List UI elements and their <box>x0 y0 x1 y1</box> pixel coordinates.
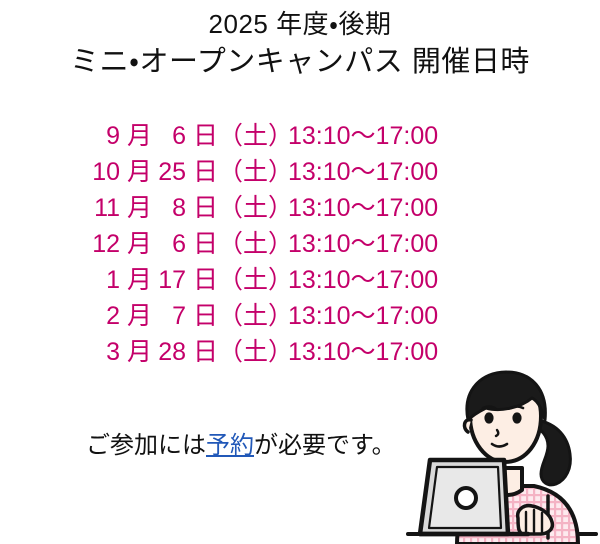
ponytail <box>532 420 570 485</box>
eye-right <box>512 412 521 423</box>
schedule-month: 9 月 <box>86 118 152 154</box>
shirt <box>457 486 578 544</box>
reservation-note-suffix: が必要です。 <box>254 432 396 459</box>
mouth <box>492 444 507 447</box>
schedule-day: 28 日 <box>152 334 218 370</box>
schedule-day: 25 日 <box>152 154 218 190</box>
schedule-dayofweek: （土） <box>218 334 280 370</box>
woman-at-laptop-illustration <box>400 368 600 544</box>
schedule-day: 6 日 <box>152 118 218 154</box>
schedule-month: 11 月 <box>86 190 152 226</box>
schedule-month: 3 月 <box>86 334 152 370</box>
eye-left <box>484 412 493 423</box>
schedule-dayofweek: （土） <box>218 118 280 154</box>
schedule-month: 10 月 <box>86 154 152 190</box>
hair <box>467 372 545 420</box>
schedule-dayofweek: （土） <box>218 226 280 262</box>
schedule-row: 2 月 7 日 （土） 13:10〜17:00 <box>0 298 600 334</box>
schedule-row: 9 月 6 日 （土） 13:10〜17:00 <box>0 118 600 154</box>
schedule-time: 13:10〜17:00 <box>280 118 438 154</box>
schedule-dayofweek: （土） <box>218 154 280 190</box>
schedule-time: 13:10〜17:00 <box>280 334 438 370</box>
schedule-day: 17 日 <box>152 262 218 298</box>
schedule-time: 13:10〜17:00 <box>280 190 438 226</box>
schedule-time: 13:10〜17:00 <box>280 298 438 334</box>
schedule-row: 10 月 25 日 （土） 13:10〜17:00 <box>0 154 600 190</box>
schedule-day: 6 日 <box>152 226 218 262</box>
schedule-row: 11 月 8 日 （土） 13:10〜17:00 <box>0 190 600 226</box>
schedule-row: 3 月 28 日 （土） 13:10〜17:00 <box>0 334 600 370</box>
laptop-logo-icon <box>456 488 476 508</box>
schedule-row: 12 月 6 日 （土） 13:10〜17:00 <box>0 226 600 262</box>
hand <box>518 506 553 534</box>
reservation-note: ご参加には予約が必要です。 <box>86 430 396 462</box>
schedule-time: 13:10〜17:00 <box>280 154 438 190</box>
schedule-day: 8 日 <box>152 190 218 226</box>
schedule-time: 13:10〜17:00 <box>280 226 438 262</box>
schedule-dayofweek: （土） <box>218 190 280 226</box>
laptop <box>420 460 528 534</box>
title-line-1: 2025 年度・後期 <box>0 6 600 42</box>
nose <box>496 430 498 436</box>
schedule-dayofweek: （土） <box>218 298 280 334</box>
schedule-time: 13:10〜17:00 <box>280 262 438 298</box>
schedule-list: 9 月 6 日 （土） 13:10〜17:00 10 月 25 日 （土） 13… <box>0 118 600 370</box>
page-title: 2025 年度・後期 ミニ・オープンキャンパス 開催日時 <box>0 6 600 82</box>
schedule-month: 12 月 <box>86 226 152 262</box>
eyebrow-right <box>511 407 523 409</box>
schedule-month: 2 月 <box>86 298 152 334</box>
face <box>470 378 541 462</box>
schedule-month: 1 月 <box>86 262 152 298</box>
reservation-note-prefix: ご参加には <box>86 432 206 459</box>
title-line-2: ミニ・オープンキャンパス 開催日時 <box>0 42 600 82</box>
ear <box>464 420 471 432</box>
neck <box>495 468 522 495</box>
schedule-day: 7 日 <box>152 298 218 334</box>
schedule-dayofweek: （土） <box>218 262 280 298</box>
eyebrow-left <box>483 407 495 409</box>
reservation-link[interactable]: 予約 <box>206 432 254 459</box>
schedule-row: 1 月 17 日 （土） 13:10〜17:00 <box>0 262 600 298</box>
